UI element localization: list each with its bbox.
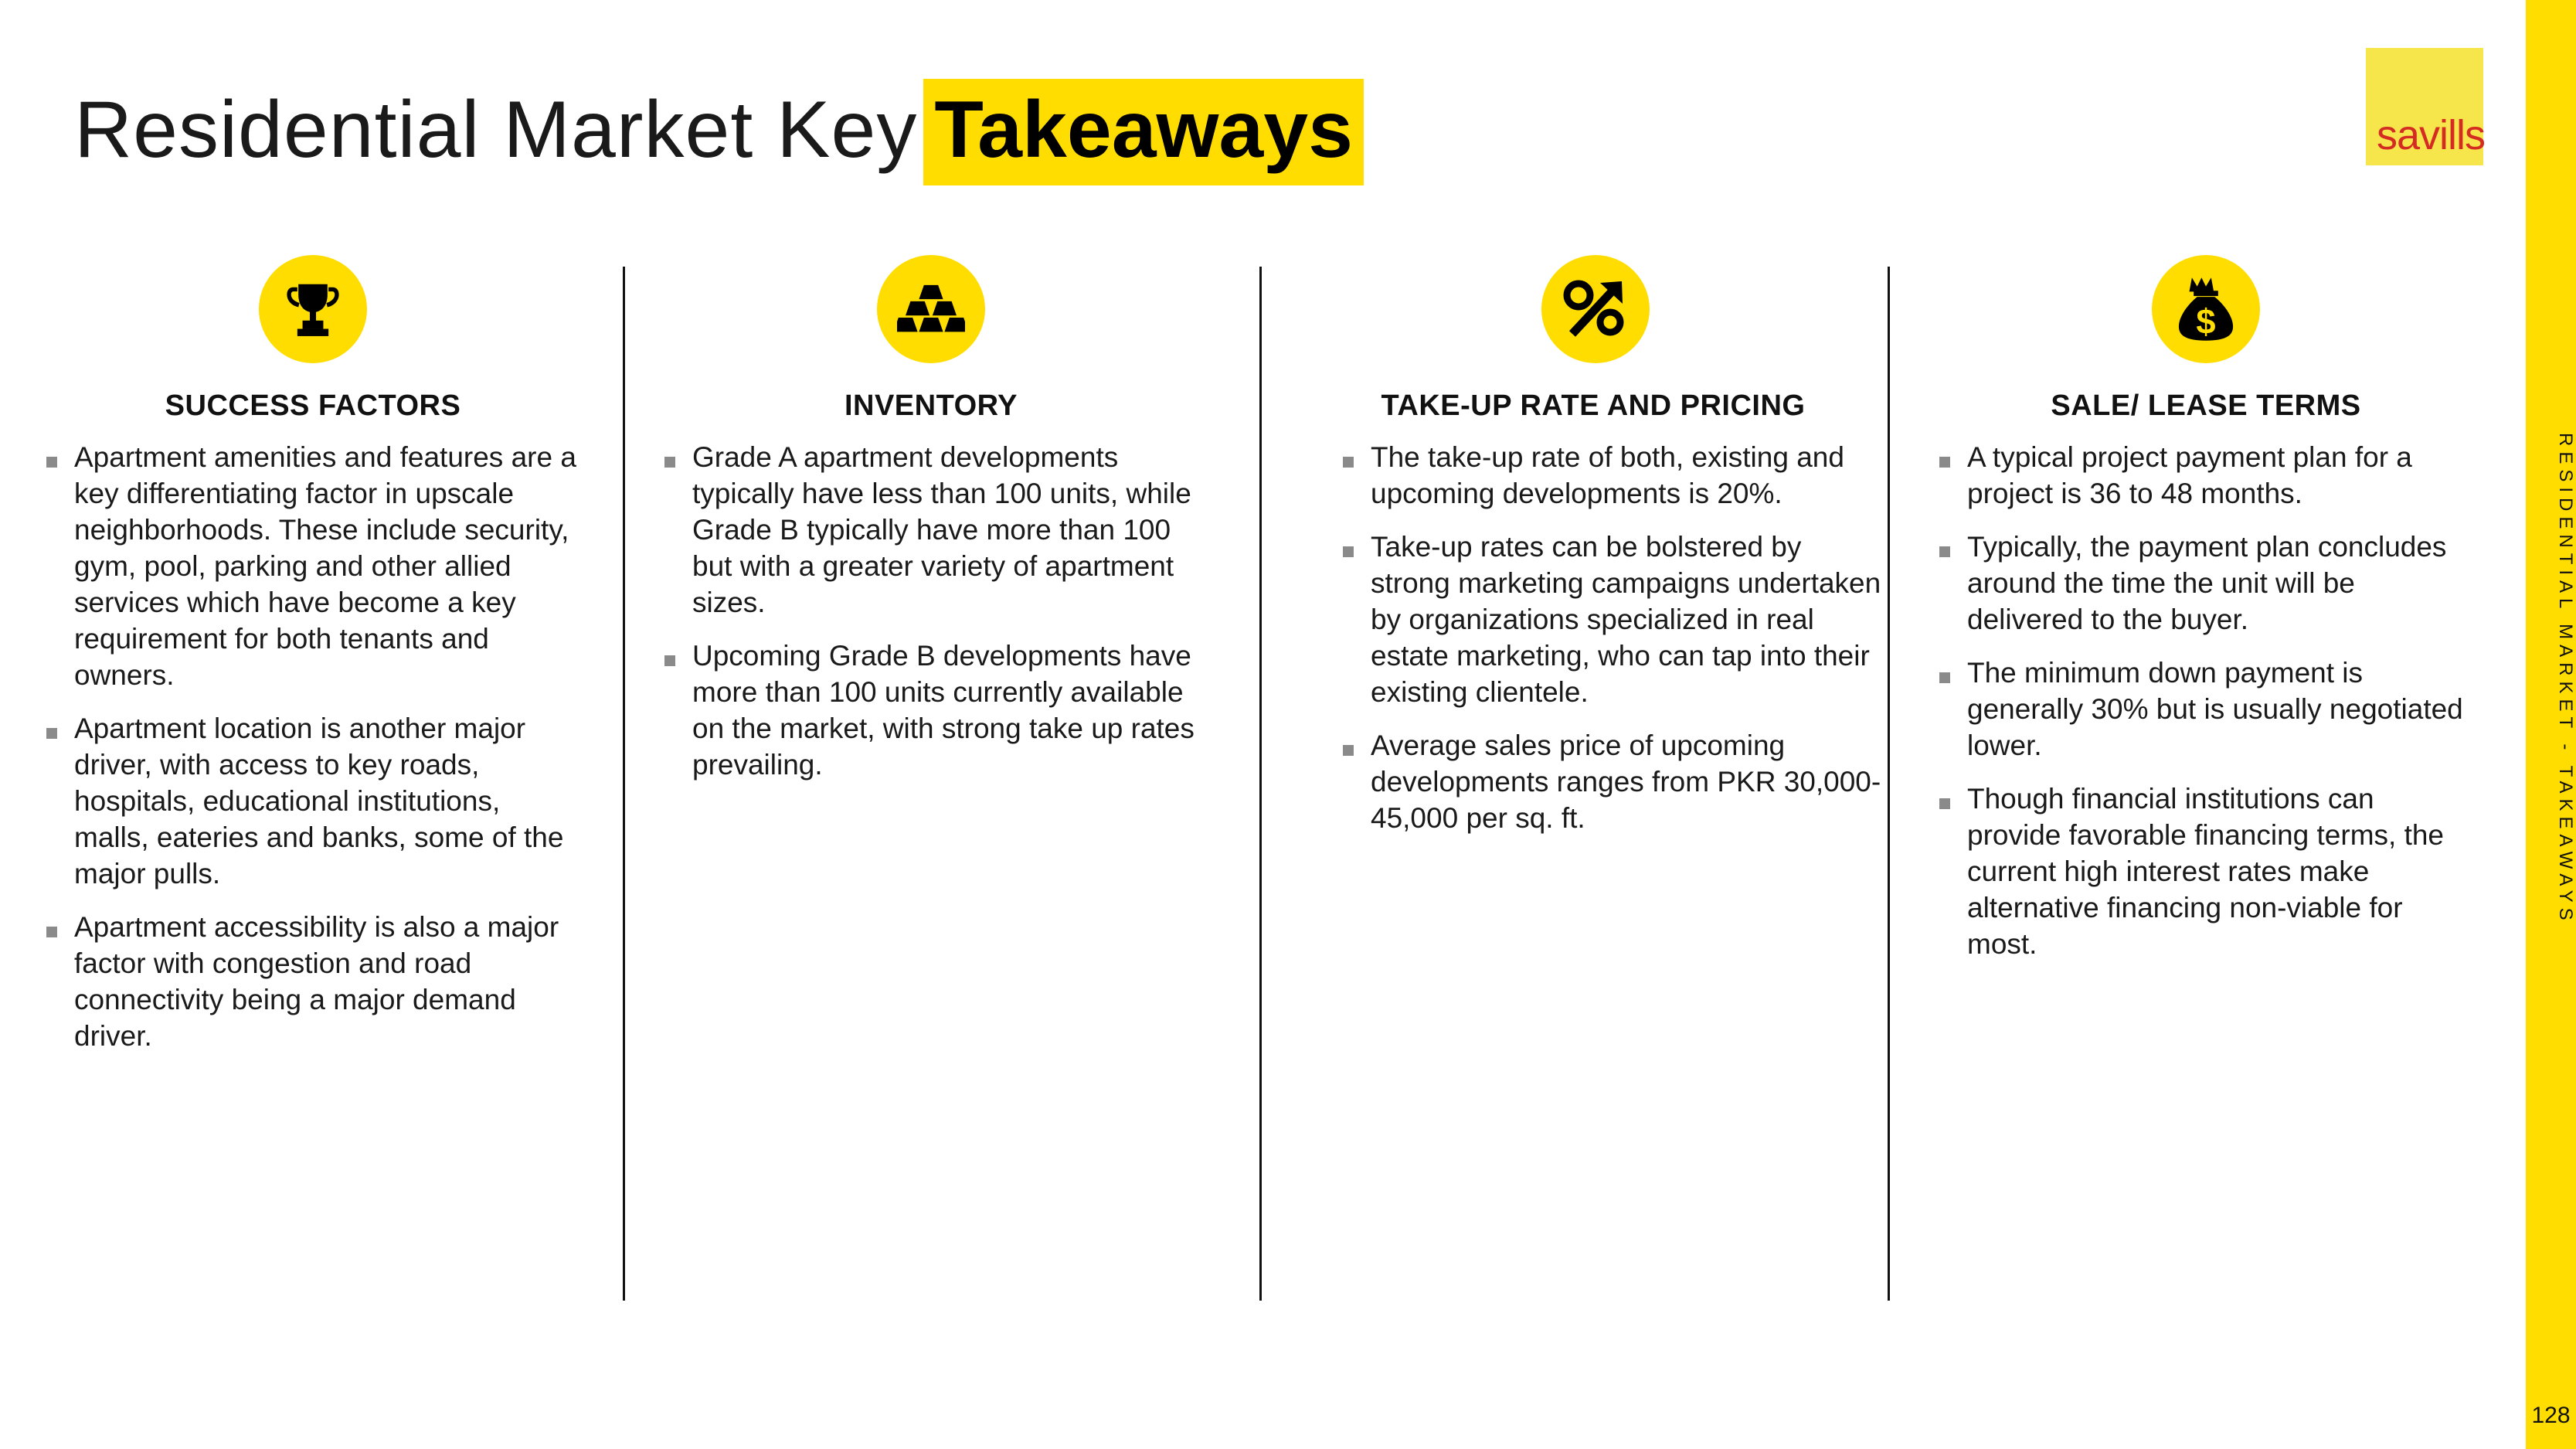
bullet-square-icon [1343,546,1354,557]
page-title-light: Residential Market Key [74,85,917,175]
svg-text:$: $ [2196,302,2215,342]
bullet-square-icon [1343,457,1354,468]
list-item: The minimum down payment is generally 30… [1939,655,2472,764]
bullet-square-icon [1939,457,1950,468]
list-item: Average sales price of upcoming developm… [1306,728,1885,837]
column-inventory: INVENTORY Grade A apartment developments… [664,255,1198,801]
page-title: Residential Market KeyTakeaways [74,90,1364,170]
side-rail: RESIDENTIAL MARKET - TAKEAWAYS 128 [2526,0,2576,1449]
list-item: A typical project payment plan for a pro… [1939,440,2472,512]
bullet-list: A typical project payment plan for a pro… [1939,440,2472,963]
list-item: Upcoming Grade B developments have more … [664,638,1198,784]
list-item: Apartment amenities and features are a k… [46,440,579,694]
column-take-up-rate-and-pricing: TAKE-UP RATE AND PRICING The take-up rat… [1306,255,1885,854]
list-item: Grade A apartment developments typically… [664,440,1198,621]
gold-bars-icon [877,255,985,363]
takeaways-columns: SUCCESS FACTORS Apartment amenities and … [0,255,2526,1352]
bullet-square-icon [664,655,675,666]
trophy-icon [259,255,367,363]
savills-logo: savills [2366,48,2483,165]
bullet-square-icon [46,927,57,937]
percent-arrow-up-icon [1541,255,1650,363]
column-divider [1259,267,1262,1301]
bullet-list: Apartment amenities and features are a k… [46,440,579,1055]
side-rail-label: RESIDENTIAL MARKET - TAKEAWAYS [2526,433,2576,926]
bullet-list: The take-up rate of both, existing and u… [1306,440,1885,837]
bullet-square-icon [46,457,57,468]
list-item: Typically, the payment plan concludes ar… [1939,529,2472,638]
column-title: INVENTORY [664,389,1198,423]
column-title: TAKE-UP RATE AND PRICING [1301,389,1885,423]
column-divider [1888,267,1890,1301]
list-item: Apartment location is another major driv… [46,711,579,893]
column-divider [623,267,625,1301]
bullet-list: Grade A apartment developments typically… [664,440,1198,784]
page-title-highlight: Takeaways [923,79,1364,185]
column-sale-lease-terms: $ SALE/ LEASE TERMS A typical project pa… [1939,255,2472,980]
bullet-square-icon [1343,745,1354,756]
bullet-square-icon [1939,546,1950,557]
list-item: Though financial institutions can provid… [1939,781,2472,963]
bullet-square-icon [1939,672,1950,683]
savills-logo-wordmark: savills [2377,114,2485,156]
page-number: 128 [2526,1403,2576,1429]
bullet-square-icon [46,728,57,739]
money-bag-icon: $ [2152,255,2260,363]
list-item: Apartment accessibility is also a major … [46,910,579,1055]
column-title: SALE/ LEASE TERMS [1939,389,2472,423]
list-item: Take-up rates can be bolstered by strong… [1306,529,1885,711]
column-title: SUCCESS FACTORS [46,389,579,423]
list-item: The take-up rate of both, existing and u… [1306,440,1885,512]
bullet-square-icon [1939,798,1950,809]
column-success-factors: SUCCESS FACTORS Apartment amenities and … [46,255,579,1072]
bullet-square-icon [664,457,675,468]
